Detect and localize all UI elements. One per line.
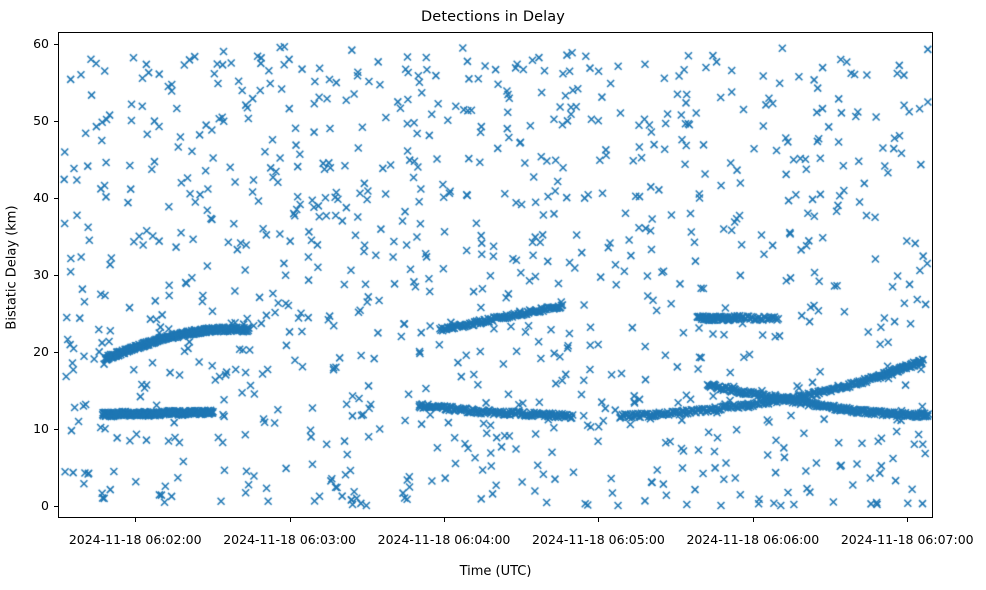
x-axis-label: Time (UTC) <box>58 564 933 579</box>
x-tick-mark <box>907 518 908 522</box>
y-tick-mark <box>54 275 58 276</box>
y-tick-mark <box>54 44 58 45</box>
x-tick-mark <box>753 518 754 522</box>
y-tick-mark <box>54 352 58 353</box>
page-title: Detections in Delay <box>0 8 986 26</box>
y-tick-mark <box>54 198 58 199</box>
y-tick-mark <box>54 506 58 507</box>
matplotlib-figure: Detections in Delay 0102030405060 Bistat… <box>0 0 986 590</box>
scatter-canvas <box>59 33 933 518</box>
x-tick-mark <box>290 518 291 522</box>
x-tick-mark <box>598 518 599 522</box>
x-tick-label: 2024-11-18 06:07:00 <box>797 532 986 547</box>
y-tick-mark <box>54 121 58 122</box>
x-tick-mark <box>444 518 445 522</box>
plot-area <box>58 32 933 518</box>
y-axis-label: Bistatic Delay (km) <box>5 25 20 511</box>
y-tick-mark <box>54 429 58 430</box>
x-tick-mark <box>135 518 136 522</box>
